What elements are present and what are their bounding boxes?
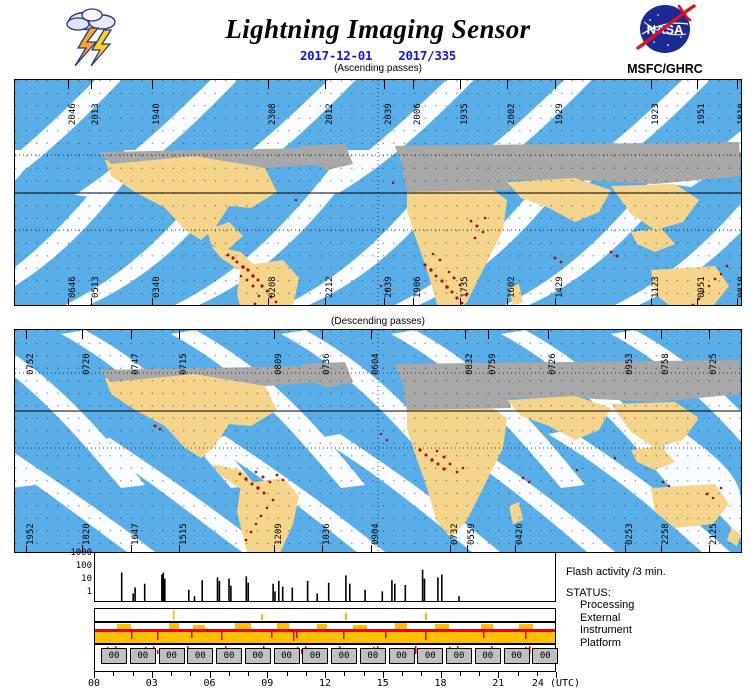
bottom-panel: 1000 100 10 1	[0, 552, 756, 680]
flash-chart-y-axis: 1000 100 10 1	[58, 552, 92, 602]
orbit-label: 2006	[413, 103, 423, 125]
orbit-tick	[91, 298, 92, 305]
y-tick-label: 100	[62, 561, 92, 571]
orbit-label: 0208	[268, 276, 278, 298]
orbit-tick	[384, 298, 385, 305]
descending-passes-map: 0752 0720 0747 0715 0809 0736 0604 0832 …	[14, 329, 742, 553]
orbit-label: 1209	[274, 523, 284, 545]
legend-spacer	[566, 579, 756, 587]
orbit-label: 1929	[555, 103, 565, 125]
date-iso: 2017-12-01	[300, 48, 372, 63]
orbit-label: 0513	[91, 276, 101, 298]
orbit-tick	[325, 298, 326, 305]
x-minor-tick	[537, 672, 538, 676]
orbit-tick	[152, 80, 153, 89]
orbit-tick	[371, 330, 372, 339]
x-minor-tick	[287, 672, 288, 676]
orbit-label: 0953	[625, 353, 635, 375]
orbit-tick	[488, 330, 489, 339]
y-tick-label: 1	[62, 587, 92, 597]
orbit-tick	[661, 330, 662, 339]
orbit-label: 1735	[460, 276, 470, 298]
x-minor-tick	[171, 672, 172, 676]
orbit-label: 1952	[26, 523, 36, 545]
orbit-label: 2258	[661, 523, 671, 545]
orbit-tick	[507, 298, 508, 305]
platform-cell: 00	[331, 648, 357, 664]
flash-activity-graphic	[95, 553, 555, 601]
orbit-tick	[325, 80, 326, 89]
orbit-label: 1810	[737, 103, 742, 125]
orbit-label: 1515	[179, 523, 189, 545]
orbit-tick	[737, 298, 738, 305]
orbit-label: 0809	[274, 353, 284, 375]
orbit-label: 2125	[709, 523, 719, 545]
orbit-tick	[152, 298, 153, 305]
x-minor-tick	[229, 672, 230, 676]
x-minor-tick	[344, 672, 345, 676]
orbit-label: 0747	[131, 353, 141, 375]
orbit-label: 0253	[625, 523, 635, 545]
orbit-label: 1647	[131, 523, 141, 545]
orbit-tick	[555, 80, 556, 89]
platform-cell: 00	[475, 648, 501, 664]
orbit-tick	[651, 80, 652, 89]
platform-cell: 00	[417, 648, 443, 664]
orbit-tick	[371, 545, 372, 552]
orbit-tick	[450, 545, 451, 552]
status-legend-platform: Platform	[566, 637, 756, 650]
x-minor-tick	[460, 672, 461, 676]
orbit-tick	[460, 80, 461, 89]
platform-cell: 00	[274, 648, 300, 664]
orbit-label: 2012	[325, 103, 335, 125]
x-minor-tick	[133, 672, 134, 676]
x-minor-tick	[402, 672, 403, 676]
orbit-tick	[322, 545, 323, 552]
orbit-label: 2013	[91, 103, 101, 125]
orbit-label: 0758	[661, 353, 671, 375]
status-external-instrument-band	[94, 622, 556, 644]
orbit-tick	[274, 545, 275, 552]
orbit-label: 1951	[697, 103, 707, 125]
orbit-label: 0732	[450, 523, 460, 545]
orbit-label: 0951	[697, 276, 707, 298]
orbit-label: 2308	[268, 103, 278, 125]
ascending-map-graphic	[15, 80, 741, 305]
status-processing-band	[94, 608, 556, 622]
status-legend-heading: STATUS:	[566, 587, 756, 600]
orbit-label: 2039	[384, 276, 394, 298]
orbit-tick	[465, 330, 466, 339]
orbit-label: 0646	[68, 276, 78, 298]
y-tick-label: 10	[62, 574, 92, 584]
x-minor-tick	[306, 672, 307, 676]
orbit-tick	[548, 330, 549, 339]
orbit-tick	[179, 330, 180, 339]
flash-chart-x-axis: 000306091215182124 (UTC)	[94, 672, 556, 680]
orbit-label: 0559	[467, 523, 477, 545]
x-minor-tick	[190, 672, 191, 676]
orbit-tick	[131, 545, 132, 552]
orbit-tick	[467, 545, 468, 552]
platform-cell: 00	[101, 648, 127, 664]
orbit-tick	[507, 80, 508, 89]
orbit-tick	[413, 298, 414, 305]
orbit-tick	[709, 545, 710, 552]
orbit-label: 0720	[82, 353, 92, 375]
orbit-label: 1820	[82, 523, 92, 545]
platform-cell: 00	[504, 648, 530, 664]
orbit-tick	[91, 80, 92, 89]
orbit-label: 0832	[465, 353, 475, 375]
orbit-label: 1429	[555, 276, 565, 298]
orbit-label: 0725	[709, 353, 719, 375]
status-platform-band: 00000000000000000000000000000000	[94, 644, 556, 672]
platform-cell: 00	[389, 648, 415, 664]
platform-cell: 00	[532, 648, 558, 664]
orbit-label: 2039	[384, 103, 394, 125]
orbit-label: 1935	[460, 103, 470, 125]
svg-text:NASA: NASA	[647, 22, 684, 37]
x-minor-tick	[518, 672, 519, 676]
orbit-tick	[515, 545, 516, 552]
orbit-tick	[268, 298, 269, 305]
orbit-tick	[555, 298, 556, 305]
orbit-tick	[274, 330, 275, 339]
orbit-tick	[651, 298, 652, 305]
orbit-label: 1923	[651, 103, 661, 125]
processing-band-graphic	[95, 609, 555, 621]
x-minor-tick	[421, 672, 422, 676]
orbit-tick	[68, 80, 69, 89]
orbit-label: 1906	[413, 276, 423, 298]
status-legend-instrument: Instrument	[566, 624, 756, 637]
status-legend-external: External	[566, 612, 756, 625]
orbit-tick	[737, 80, 738, 89]
orbit-tick	[82, 330, 83, 339]
orbit-tick	[131, 330, 132, 339]
status-legend-processing: Processing	[566, 599, 756, 612]
page-header: Lightning Imaging Sensor 2017-12-012017/…	[0, 0, 756, 78]
orbit-label: 1036	[322, 523, 332, 545]
orbit-label: 0340	[152, 276, 162, 298]
descending-caption: (Descending passes)	[0, 316, 756, 327]
orbit-label: 1123	[651, 276, 661, 298]
bottom-legend: Flash activity /3 min. STATUS: Processin…	[566, 566, 756, 649]
orbit-tick	[268, 80, 269, 89]
orbit-label: 0726	[548, 353, 558, 375]
orbit-tick	[625, 330, 626, 339]
orbit-tick	[460, 298, 461, 305]
orbit-tick	[322, 330, 323, 339]
orbit-tick	[697, 298, 698, 305]
orbit-tick	[68, 298, 69, 305]
flash-activity-chart	[94, 552, 556, 602]
orbit-label: 2046	[68, 103, 78, 125]
platform-cell: 00	[360, 648, 386, 664]
orbit-label: 2212	[325, 276, 335, 298]
platform-cell: 00	[159, 648, 185, 664]
platform-cell: 00	[216, 648, 242, 664]
platform-cell: 00	[187, 648, 213, 664]
nasa-meatball-icon: NASA	[634, 4, 696, 56]
orbit-label: 2002	[507, 103, 517, 125]
orbit-label: 1940	[152, 103, 162, 125]
orbit-tick	[26, 330, 27, 339]
ascending-passes-map: 2046 2013 1940 2308 2012 2039 2006 1935 …	[14, 79, 742, 306]
orbit-label: 1602	[507, 276, 517, 298]
orbit-tick	[413, 80, 414, 89]
x-minor-tick	[479, 672, 480, 676]
x-minor-tick	[364, 672, 365, 676]
orbit-label: 0715	[179, 353, 189, 375]
platform-cell: 00	[302, 648, 328, 664]
orbit-tick	[26, 545, 27, 552]
nasa-branding: NASA MSFC/GHRC	[610, 4, 720, 76]
platform-cell: 00	[245, 648, 271, 664]
orbit-tick	[709, 330, 710, 339]
x-minor-tick	[248, 672, 249, 676]
orbit-label: 0904	[371, 523, 381, 545]
nasa-center-label: MSFC/GHRC	[610, 62, 720, 76]
orbit-tick	[697, 80, 698, 89]
external-instrument-graphic	[95, 623, 555, 643]
x-minor-tick	[113, 672, 114, 676]
orbit-tick	[179, 545, 180, 552]
orbit-label: 0752	[26, 353, 36, 375]
orbit-label: 0810	[737, 276, 742, 298]
platform-cell: 00	[446, 648, 472, 664]
y-tick-label: 1000	[62, 548, 92, 558]
orbit-tick	[661, 545, 662, 552]
orbit-tick	[384, 80, 385, 89]
orbit-label: 0759	[488, 353, 498, 375]
date-doy: 2017/335	[398, 48, 456, 63]
orbit-label: 0426	[515, 523, 525, 545]
orbit-tick	[625, 545, 626, 552]
orbit-label: 0604	[371, 353, 381, 375]
flash-activity-legend-label: Flash activity /3 min.	[566, 566, 756, 579]
orbit-label: 0736	[322, 353, 332, 375]
platform-cell: 00	[130, 648, 156, 664]
